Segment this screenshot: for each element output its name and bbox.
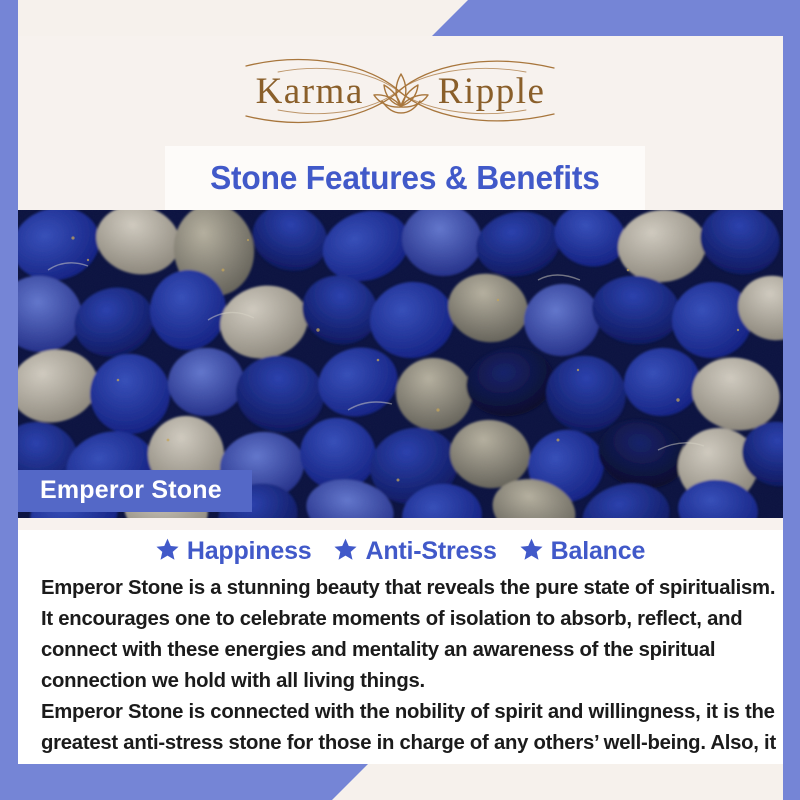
description-line: heals and balances the chakras.: [41, 759, 765, 764]
benefit-item-balance: Balance: [519, 537, 646, 566]
content-panel: Happiness Anti-Stress Balance Emperor St…: [18, 518, 783, 764]
info-card: Karma Ripple Stone Features & Benefits: [18, 36, 783, 764]
title-banner: Stone Features & Benefits: [165, 146, 645, 210]
brand-lockup: Karma Ripple: [186, 52, 616, 130]
description-line: connect with these energies and mentalit…: [41, 635, 765, 666]
description-line: Emperor Stone is a stunning beauty that …: [41, 573, 765, 604]
description-line: connection we hold with all living thing…: [41, 666, 765, 697]
decorative-border-rail-left: [0, 0, 18, 800]
stone-photo-section: Emperor Stone: [18, 210, 783, 518]
benefit-item-anti-stress: Anti-Stress: [333, 537, 496, 566]
stone-name-badge-label: Emperor Stone: [40, 476, 222, 504]
star-icon: [519, 537, 544, 566]
star-icon: [155, 537, 180, 566]
decorative-border-rail-right: [783, 0, 800, 800]
lotus-icon: [370, 68, 432, 116]
description-line: greatest anti-stress stone for those in …: [41, 728, 765, 759]
star-icon: [333, 537, 358, 566]
content-top-strip: [18, 518, 783, 530]
title-banner-wrap: Stone Features & Benefits: [18, 146, 783, 210]
benefit-label: Happiness: [187, 537, 312, 566]
brand-header: Karma Ripple: [18, 36, 783, 146]
description-line: It encourages one to celebrate moments o…: [41, 604, 765, 635]
benefit-item-happiness: Happiness: [155, 537, 312, 566]
description-block: Emperor Stone is a stunning beauty that …: [27, 570, 773, 764]
description-line: Emperor Stone is connected with the nobi…: [41, 697, 765, 728]
page-title: Stone Features & Benefits: [210, 159, 600, 197]
benefit-label: Balance: [551, 537, 646, 566]
benefit-label: Anti-Stress: [365, 537, 496, 566]
stone-name-badge: Emperor Stone: [18, 470, 252, 512]
brand-name-right: Ripple: [438, 70, 546, 113]
brand-name-left: Karma: [256, 70, 364, 113]
